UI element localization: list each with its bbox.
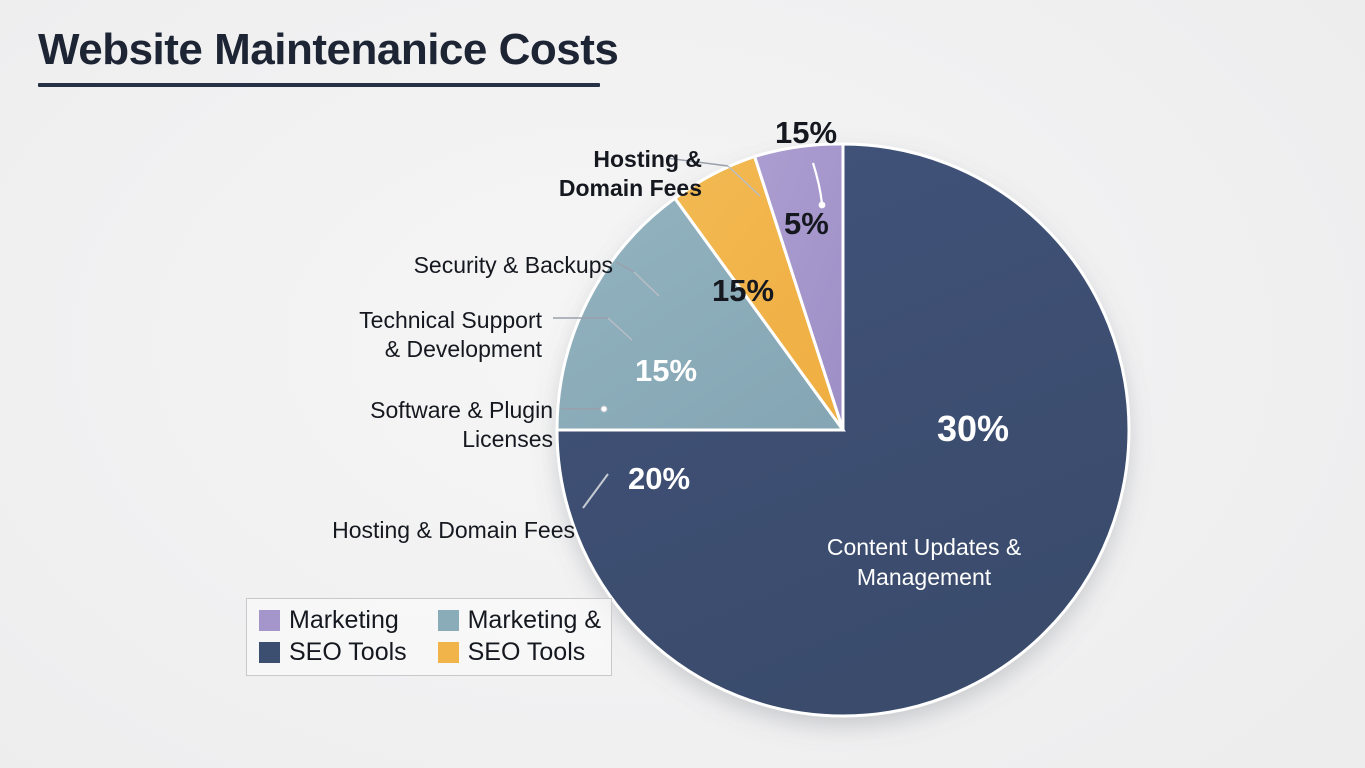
callout-hosting-domain-fees-bottom: Hosting & Domain Fees — [300, 516, 575, 545]
percent-label-navy-30: 30% — [937, 408, 1009, 450]
callout-technical-support: Technical Support & Development — [330, 306, 542, 364]
callout-security-backups: Security & Backups — [385, 251, 613, 280]
legend-swatch-icon-marketing-and — [438, 610, 459, 631]
percent-label-navy-20: 20% — [628, 461, 690, 497]
callout-software-plugin-licenses: Software & Plugin Licenses — [340, 396, 553, 454]
percent-label-purple-5: 5% — [784, 206, 829, 242]
slide-canvas: Website Maintenanice Costs — [0, 0, 1365, 768]
legend-label-seo-tools-orange: SEO Tools — [468, 639, 586, 667]
legend-label-marketing: Marketing — [289, 607, 399, 635]
callout-hosting-domain-fees-top: Hosting & Domain Fees — [527, 145, 702, 203]
legend-swatch-icon-seo-tools-orange — [438, 642, 459, 663]
legend-item-seo-tools-orange[interactable]: SEO Tools — [438, 639, 601, 667]
leader-dot-software-licenses — [601, 406, 607, 412]
chart-legend: Marketing Marketing & SEO Tools SEO Tool… — [246, 598, 612, 676]
pie-chart: Hosting & Domain Fees Security & Backups… — [0, 0, 1365, 768]
percent-label-teal-15: 15% — [635, 353, 697, 389]
legend-item-marketing-and[interactable]: Marketing & — [438, 607, 601, 635]
legend-label-marketing-and: Marketing & — [468, 607, 601, 635]
legend-swatch-icon-marketing — [259, 610, 280, 631]
legend-item-marketing[interactable]: Marketing — [259, 607, 422, 635]
percent-label-orange-15: 15% — [712, 273, 774, 309]
legend-item-seo-tools-navy[interactable]: SEO Tools — [259, 639, 422, 667]
inner-label-content-updates: Content Updates & Management — [793, 533, 1055, 593]
legend-label-seo-tools-navy: SEO Tools — [289, 639, 407, 667]
legend-swatch-icon-seo-tools-navy — [259, 642, 280, 663]
percent-label-top-15: 15% — [775, 115, 837, 151]
